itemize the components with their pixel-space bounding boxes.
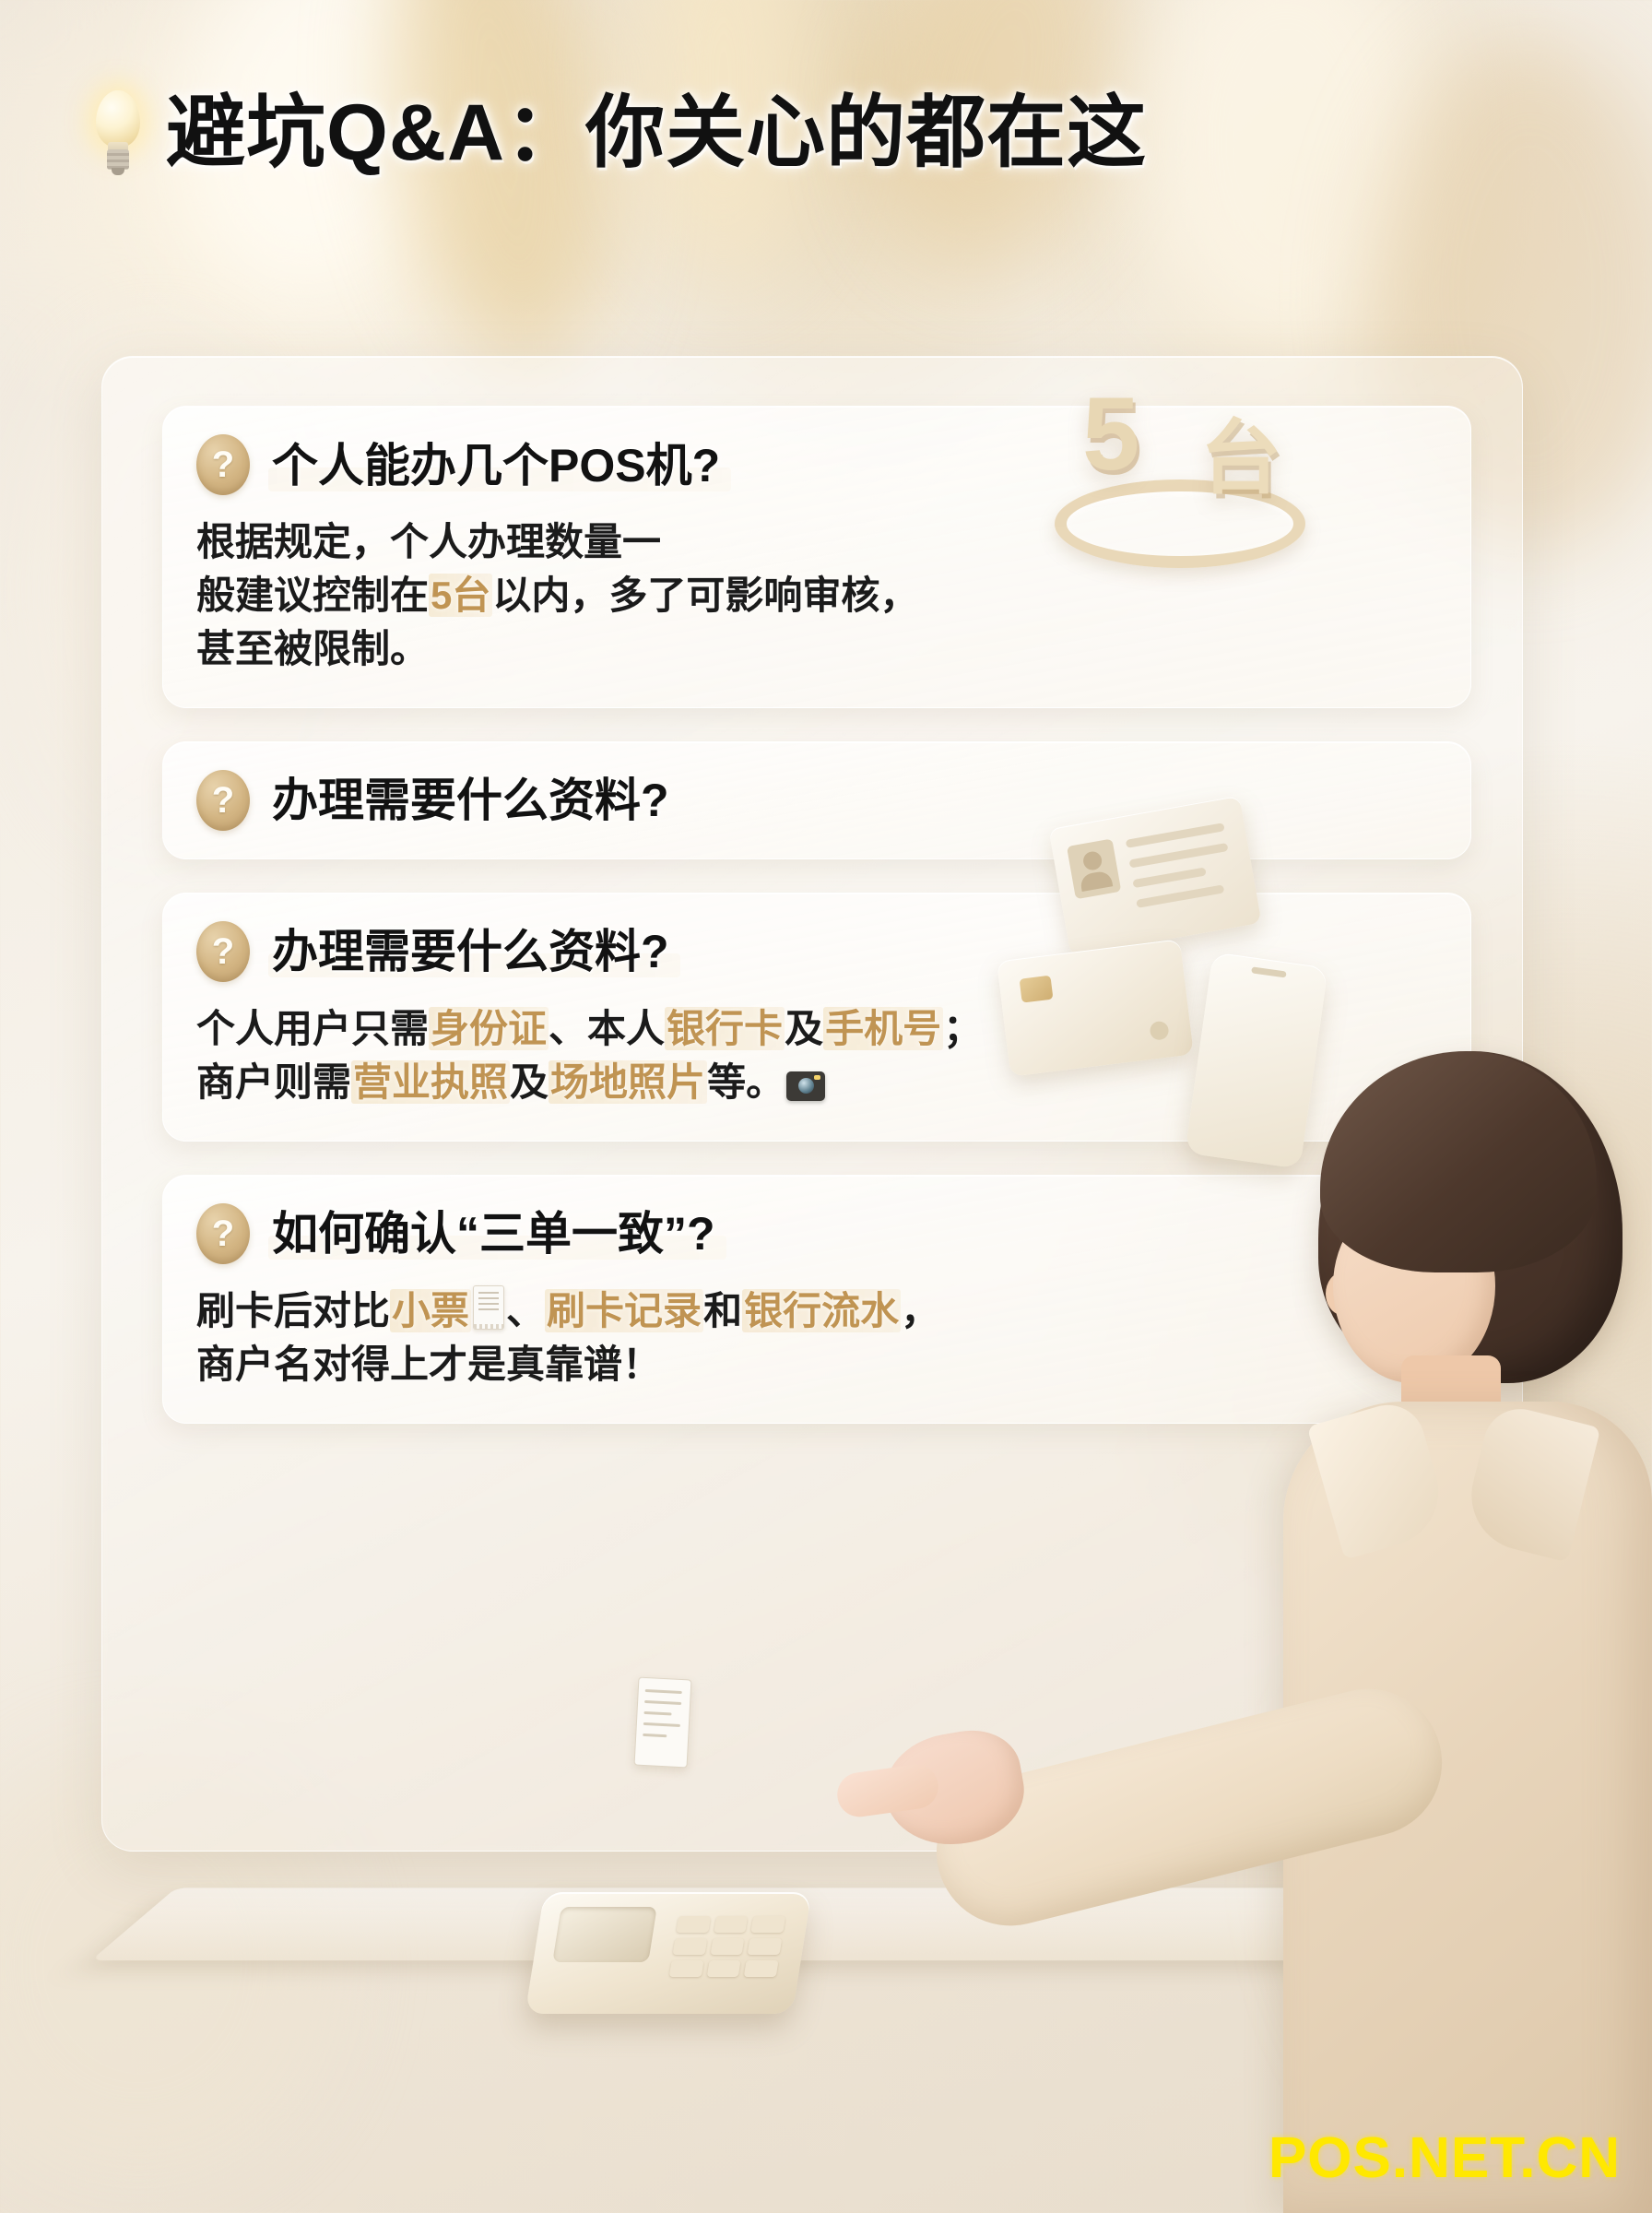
receipt-icon <box>473 1285 504 1330</box>
answer-segment: 等。 <box>707 1060 785 1104</box>
answer-highlight: 银行卡 <box>665 1007 785 1050</box>
answer-highlight: 场地照片 <box>549 1060 707 1104</box>
qa-card[interactable]: ? 个人能办几个POS机? 根据规定，个人办理数量一 般建议控制在5台以内，多了… <box>162 406 1471 708</box>
glass-panel-base <box>91 1888 1399 1960</box>
answer-segment: 般建议控制在 <box>196 574 429 617</box>
answer-segment: 刷卡后对比 <box>196 1289 390 1332</box>
qa-card[interactable]: ? 如何确认“三单一致”? 刷卡后对比小票、刷卡记录和银行流水， 商户名对得上才… <box>162 1175 1471 1424</box>
question-mark-icon: ? <box>196 1203 250 1264</box>
answer-segment: ， <box>901 1289 939 1332</box>
answer-segment: 、 <box>506 1289 545 1332</box>
answer-highlight: 5台 <box>429 574 492 617</box>
question-row: ? 个人能办几个POS机? <box>196 434 1434 495</box>
answer-segment: 个人用户只需 <box>196 1007 429 1050</box>
question-text: 如何确认“三单一致”? <box>268 1205 725 1261</box>
qa-card[interactable]: ? 办理需要什么资料? 个人用户只需身份证、本人银行卡及手机号； 商户则需营业执… <box>162 893 1471 1142</box>
answer-segment: 、本人 <box>549 1007 665 1050</box>
lightbulb-icon <box>88 89 147 177</box>
answer-segment: 甚至被限制。 <box>196 627 429 670</box>
answer-segment: 以内，多了可影响审核， <box>492 574 918 617</box>
watermark: POS.NET.CN <box>1268 2125 1621 2191</box>
question-text: 个人能办几个POS机? <box>268 437 729 493</box>
question-mark-icon: ? <box>196 434 250 495</box>
question-row: ? 如何确认“三单一致”? <box>196 1203 1434 1264</box>
question-mark-icon: ? <box>196 770 250 831</box>
question-text: 办理需要什么资料? <box>268 772 678 828</box>
answer-text: 刷卡后对比小票、刷卡记录和银行流水， 商户名对得上才是真靠谱！ <box>196 1284 1434 1391</box>
page-header: 避坑Q&A：你关心的都在这 <box>88 89 1147 177</box>
question-row: ? 办理需要什么资料? <box>196 770 1434 831</box>
answer-highlight: 身份证 <box>429 1007 549 1050</box>
answer-text: 个人用户只需身份证、本人银行卡及手机号； 商户则需营业执照及场地照片等。 <box>196 1002 1434 1109</box>
answer-highlight: 银行流水 <box>742 1289 901 1332</box>
question-text: 办理需要什么资料? <box>268 923 678 979</box>
answer-segment: ； <box>943 1007 982 1050</box>
answer-segment: 根据规定，个人办理数量一 <box>196 520 661 563</box>
answer-highlight: 刷卡记录 <box>545 1289 703 1332</box>
qa-card[interactable]: ? 办理需要什么资料? <box>162 741 1471 859</box>
answer-highlight: 营业执照 <box>351 1060 510 1104</box>
answer-segment: 和 <box>703 1289 742 1332</box>
background-light-blob <box>1134 0 1438 360</box>
qa-card-list: ? 个人能办几个POS机? 根据规定，个人办理数量一 般建议控制在5台以内，多了… <box>162 406 1471 1457</box>
question-mark-icon: ? <box>196 921 250 982</box>
question-row: ? 办理需要什么资料? <box>196 921 1434 982</box>
camera-icon <box>786 1071 825 1101</box>
background-light-blob <box>364 0 641 381</box>
answer-segment: 商户名对得上才是真靠谱！ <box>196 1343 661 1386</box>
answer-highlight: 小票 <box>390 1289 471 1332</box>
answer-text: 根据规定，个人办理数量一 般建议控制在5台以内，多了可影响审核， 甚至被限制。 <box>196 515 1434 676</box>
answer-segment: 及 <box>510 1060 549 1104</box>
page-title: 避坑Q&A：你关心的都在这 <box>166 93 1147 172</box>
answer-segment: 商户则需 <box>196 1060 351 1104</box>
answer-highlight: 手机号 <box>823 1007 943 1050</box>
answer-segment: 及 <box>785 1007 823 1050</box>
